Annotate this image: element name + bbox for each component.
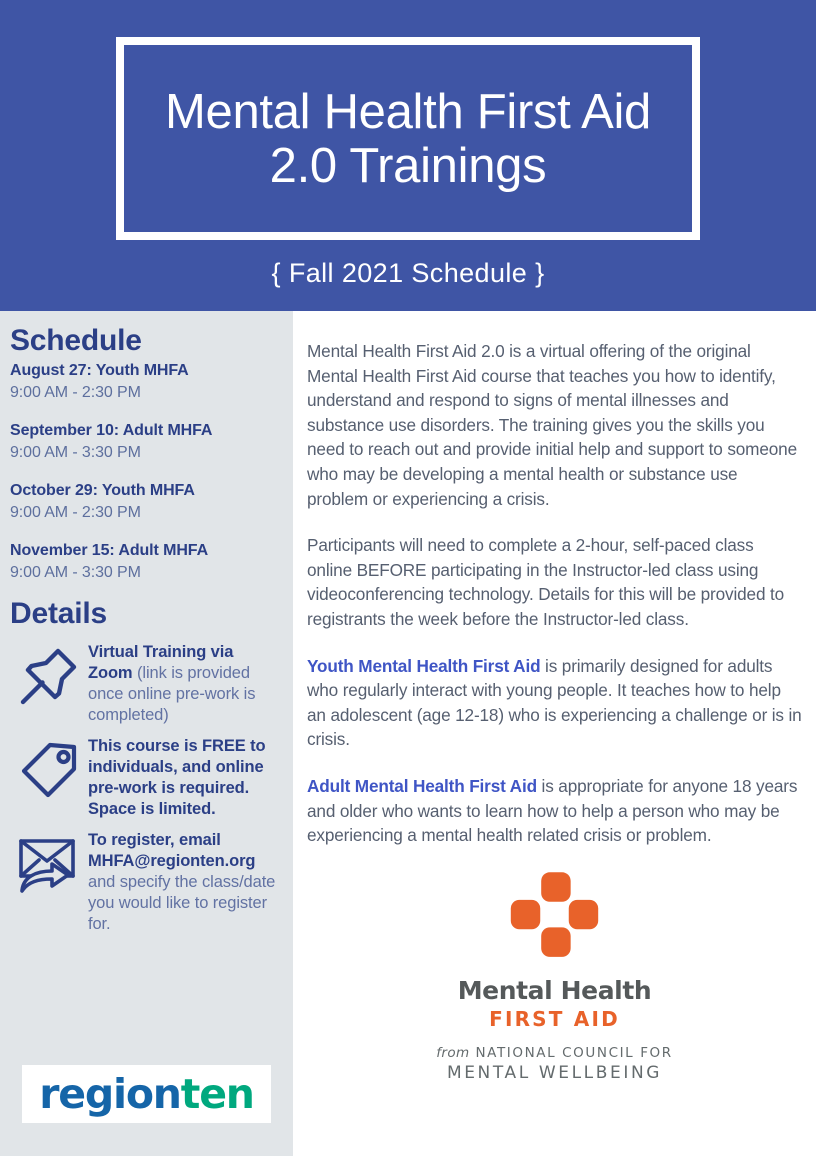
pushpin-icon xyxy=(10,638,88,710)
main-content: Mental Health First Aid 2.0 is a virtual… xyxy=(293,311,816,1156)
schedule-item: September 10: Adult MHFA 9:00 AM - 3:30 … xyxy=(10,420,279,464)
detail-text-virtual-training: Virtual Training via Zoom (link is provi… xyxy=(88,638,279,726)
regionten-logo: regionten xyxy=(22,1065,271,1123)
page-title: Mental Health First Aid 2.0 Trainings xyxy=(165,85,651,193)
body-paragraph-intro: Mental Health First Aid 2.0 is a virtual… xyxy=(307,339,802,511)
schedule-item-date: August 27: Youth MHFA xyxy=(10,360,279,382)
header-banner: Mental Health First Aid 2.0 Trainings { … xyxy=(0,0,816,311)
body-paragraph-prework: Participants will need to complete a 2-h… xyxy=(307,533,802,631)
mhfa-logo-from-line2: MENTAL WELLBEING xyxy=(447,1063,662,1083)
schedule-heading: Schedule xyxy=(10,323,279,359)
schedule-item-time: 9:00 AM - 2:30 PM xyxy=(10,382,279,404)
title-box: Mental Health First Aid 2.0 Trainings xyxy=(116,37,700,240)
schedule-item-time: 9:00 AM - 3:30 PM xyxy=(10,442,279,464)
price-tag-icon xyxy=(10,732,88,804)
detail-row-free-course: This course is FREE to individuals, and … xyxy=(10,732,279,820)
schedule-item-date: September 10: Adult MHFA xyxy=(10,420,279,442)
detail-text-free-course: This course is FREE to individuals, and … xyxy=(88,732,279,820)
mhfa-logo-from-line1: from NATIONAL COUNCIL FOR xyxy=(436,1045,673,1061)
mhfa-logo-from-word: from xyxy=(436,1045,469,1061)
sidebar: Schedule August 27: Youth MHFA 9:00 AM -… xyxy=(0,311,293,1156)
mhfa-logo-subtitle: FIRST AID xyxy=(489,1007,620,1031)
regionten-logo-ten: ten xyxy=(181,1070,254,1118)
schedule-item: October 29: Youth MHFA 9:00 AM - 2:30 PM xyxy=(10,480,279,524)
pinwheel-cross-icon xyxy=(507,870,602,962)
detail-bold-free-course: This course is FREE to individuals, and … xyxy=(88,737,266,818)
body-paragraph-adult: Adult Mental Health First Aid is appropr… xyxy=(307,774,802,848)
detail-row-virtual-training: Virtual Training via Zoom (link is provi… xyxy=(10,638,279,726)
header-subtitle: { Fall 2021 Schedule } xyxy=(0,258,816,289)
detail-text-register-email: To register, email MHFA@regionten.org an… xyxy=(88,826,279,935)
details-heading: Details xyxy=(10,596,279,632)
schedule-item: August 27: Youth MHFA 9:00 AM - 2:30 PM xyxy=(10,360,279,404)
schedule-item-date: November 15: Adult MHFA xyxy=(10,540,279,562)
body-paragraph-youth: Youth Mental Health First Aid is primari… xyxy=(307,654,802,752)
schedule-item-time: 9:00 AM - 3:30 PM xyxy=(10,562,279,584)
body-text-intro: Mental Health First Aid 2.0 is a virtual… xyxy=(307,341,797,509)
detail-bold-register-email: To register, email MHFA@regionten.org xyxy=(88,831,255,870)
schedule-list: August 27: Youth MHFA 9:00 AM - 2:30 PM … xyxy=(10,360,279,584)
schedule-item-date: October 29: Youth MHFA xyxy=(10,480,279,502)
detail-row-register-email: To register, email MHFA@regionten.org an… xyxy=(10,826,279,935)
mhfa-logo: Mental Health FIRST AID from NATIONAL CO… xyxy=(307,870,802,1083)
schedule-item-time: 9:00 AM - 2:30 PM xyxy=(10,502,279,524)
detail-rest-register-email: and specify the class/date you would lik… xyxy=(88,873,275,933)
body-bold-adult: Adult Mental Health First Aid xyxy=(307,776,537,796)
body-text-prework: Participants will need to complete a 2-h… xyxy=(307,535,784,629)
regionten-logo-region: region xyxy=(39,1070,181,1118)
mhfa-logo-name: Mental Health xyxy=(458,976,652,1005)
schedule-item: November 15: Adult MHFA 9:00 AM - 3:30 P… xyxy=(10,540,279,584)
body-bold-youth: Youth Mental Health First Aid xyxy=(307,656,540,676)
mhfa-logo-from-caps: NATIONAL COUNCIL FOR xyxy=(475,1045,672,1061)
envelope-forward-icon xyxy=(10,826,88,898)
